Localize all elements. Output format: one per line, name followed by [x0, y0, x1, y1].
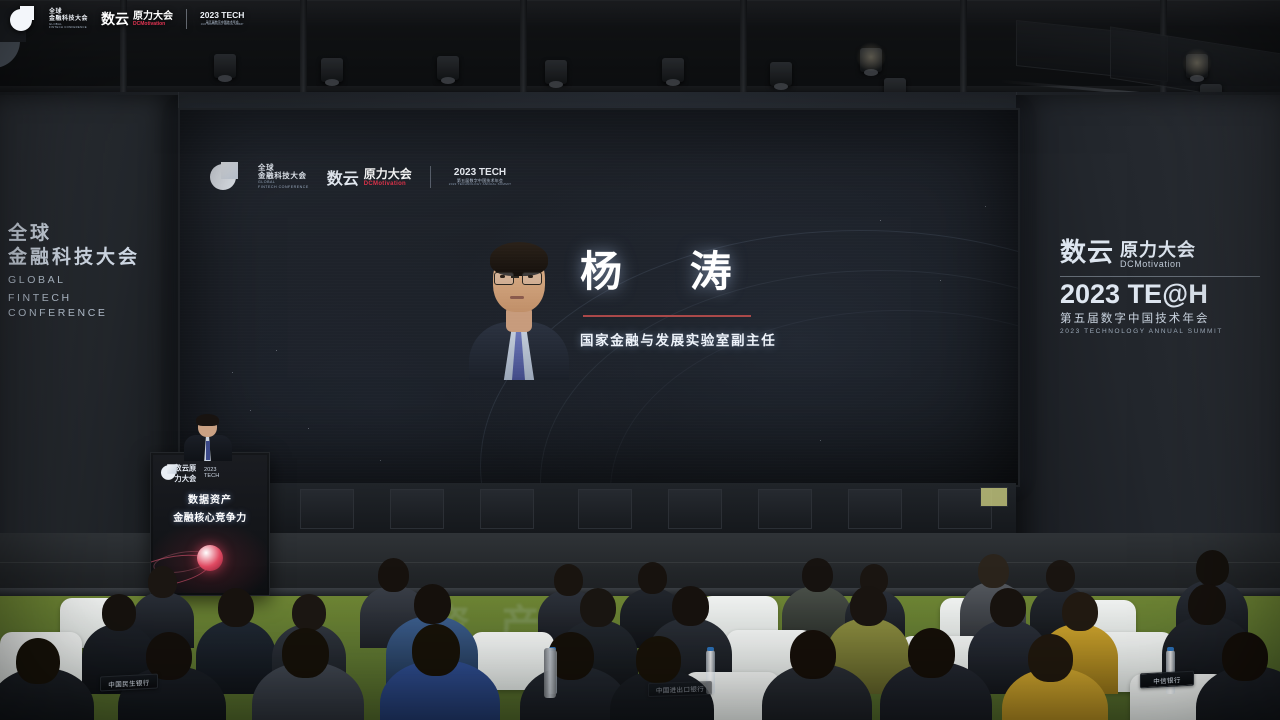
stage-light — [214, 54, 236, 78]
right-wall-tech-year: 2023 TE@H — [1060, 281, 1275, 308]
podium-logo-tech: 2023 TECH — [204, 466, 221, 478]
audience-head — [1222, 632, 1268, 681]
audience-head — [978, 554, 1009, 588]
bottle-cap — [707, 647, 714, 651]
stage-light — [437, 56, 459, 80]
stage-light — [662, 58, 684, 82]
table-name-card: 中国民生银行 — [100, 673, 158, 691]
table-name-card: 中国进出口银行 — [648, 681, 712, 697]
overlay-tech-en: 2023 TECHNOLOGY ANNUAL SUMMIT — [200, 24, 244, 27]
audience-head — [802, 558, 833, 592]
overlay-fintech-text: 全球 金融科技大会 GLOBAL FINTECH CONFERENCE — [49, 9, 88, 28]
left-wall-en-line2: FINTECH CONFERENCE — [8, 291, 158, 321]
podium-logo-strip: 数云原力大会 2023 TECH — [161, 462, 221, 483]
audience-head — [412, 624, 460, 676]
right-wall-tech-h: H — [1188, 279, 1208, 309]
audience-head — [1196, 550, 1229, 586]
name-card-label: 中国进出口银行 — [656, 683, 704, 695]
audience-head — [1028, 634, 1073, 682]
ceiling-beam — [520, 0, 527, 96]
right-wall-divider — [1060, 276, 1260, 277]
audience-head — [148, 566, 177, 598]
audience-head — [1062, 592, 1098, 631]
ceiling-beam — [300, 0, 307, 96]
audience-head — [1046, 560, 1075, 592]
right-wall-dcm-cn-sub: 原力大会 — [1120, 241, 1196, 260]
audience-head — [908, 628, 955, 678]
broadcast-logo-overlay: 全球 金融科技大会 GLOBAL FINTECH CONFERENCE 数云 原… — [10, 6, 244, 32]
right-wall-cn-line: 第五届数字中国技术年会 — [1060, 310, 1275, 326]
podium-title-line1: 数据资产 — [151, 491, 269, 506]
overlay-dcm-cn-main: 数云 — [101, 9, 129, 29]
right-wall-en-line: 2023 TECHNOLOGY ANNUAL SUMMIT — [1060, 328, 1275, 335]
wall-louver — [980, 487, 1008, 507]
stage-light-glow — [1182, 48, 1212, 78]
audience-head — [292, 594, 326, 631]
audience-head — [790, 630, 836, 679]
led-vignette — [180, 110, 1018, 485]
right-wall-dcm-cn-main: 数云 — [1060, 232, 1114, 269]
left-wall-en-line1: GLOBAL — [8, 273, 158, 288]
conference-hall-photo: 全球 金融科技大会 GLOBAL FINTECH CONFERENCE 数云 原… — [0, 0, 1280, 720]
overlay-dcm-logo: 数云 原力大会 DCMotivation — [101, 9, 173, 29]
table-name-card: 中信银行 — [1140, 671, 1194, 689]
name-card-label: 中国民生银行 — [108, 676, 149, 688]
ceiling-beam — [960, 0, 967, 96]
overlay-fintech-cn1: 全球 — [49, 9, 88, 16]
bottle-cap — [1167, 647, 1174, 651]
overlay-divider — [186, 9, 187, 29]
overlay-dcm-en-sub: DCMotivation — [133, 22, 173, 27]
left-wall-cn-line2: 金融科技大会 — [8, 246, 158, 270]
stage-light-glow — [856, 42, 886, 72]
presenter-at-podium — [182, 416, 234, 460]
left-wall-cn-line1: 全球 — [8, 222, 158, 246]
stage-light — [321, 58, 343, 82]
overlay-fintech-en2: FINTECH CONFERENCE — [49, 26, 88, 29]
podium-fintech-mark — [161, 464, 171, 481]
overlay-tech-logo: 2023 TECH 第五届数字中国技术年会 2023 TECHNOLOGY AN… — [200, 11, 244, 26]
audience-head — [990, 588, 1026, 627]
overlay-dcm-cn-sub: 原力大会 — [133, 12, 173, 22]
right-wall-signage: 数云 原力大会 DCMotivation 2023 TE@H 第五届数字中国技术… — [1060, 232, 1275, 335]
audience-head — [378, 558, 409, 592]
podium-logo-cn: 数云原力大会 — [174, 462, 200, 483]
thermos-flask — [544, 648, 556, 698]
ceiling-beam — [740, 0, 747, 96]
audience-head — [580, 588, 616, 627]
audience-head — [638, 562, 667, 594]
left-wall-signage: 全球 金融科技大会 GLOBAL FINTECH CONFERENCE — [8, 222, 158, 321]
audience-head — [1188, 584, 1226, 625]
at-swirl-icon: @ — [1160, 279, 1190, 309]
audience-head — [414, 584, 451, 624]
audience-head — [554, 564, 583, 596]
right-wall-tech-text: 2023 TE — [1060, 279, 1162, 309]
audience-head — [850, 586, 887, 626]
stage-light — [545, 60, 567, 84]
led-stage-screen: 全球 金融科技大会 GLOBAL FINTECH CONFERENCE 数云 原… — [178, 108, 1020, 487]
right-wall-dcm-en-sub: DCMotivation — [1120, 260, 1196, 269]
stage-light — [770, 62, 792, 86]
audience-head — [102, 594, 136, 631]
audience-head — [16, 638, 60, 684]
name-card-label: 中信银行 — [1153, 674, 1181, 685]
audience-area: 中国民生银行 中国进出口银行 中信银行 — [0, 520, 1280, 720]
audience-head — [636, 636, 681, 683]
audience-head — [282, 628, 329, 678]
audience-head — [218, 588, 254, 627]
fintech-circle-mark-overlay — [10, 6, 36, 32]
audience-head — [672, 586, 709, 626]
